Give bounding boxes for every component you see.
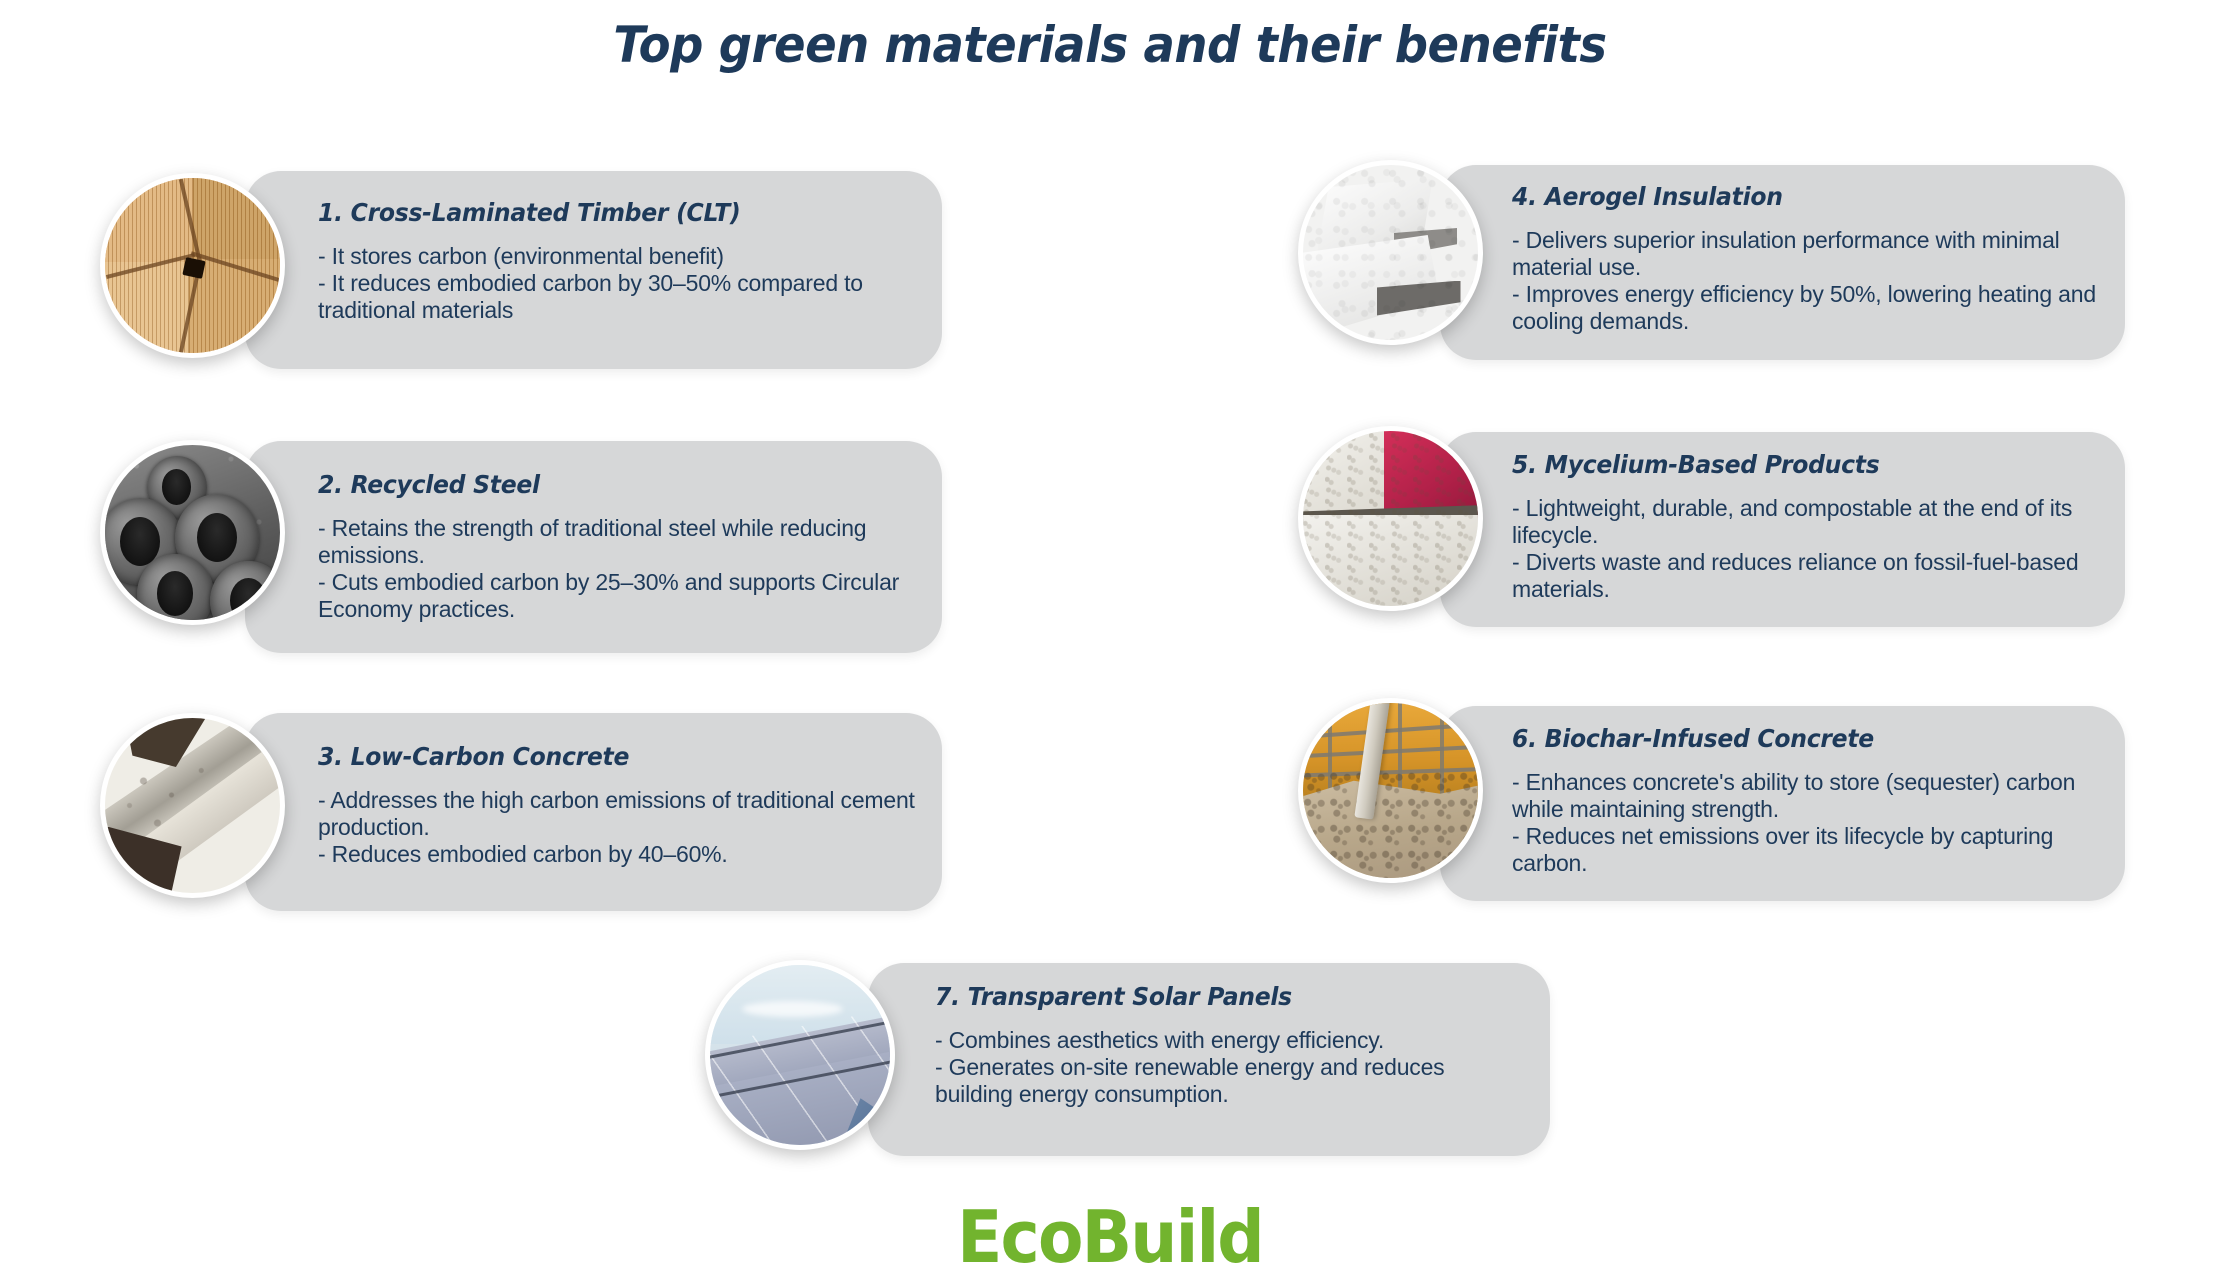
card-3-text: 3. Low-Carbon Concrete - Addresses the h… xyxy=(318,742,918,868)
cross-laminated-timber-photo xyxy=(100,173,285,358)
card-6-benefit-1: - Enhances concrete's ability to store (… xyxy=(1512,769,2097,823)
card-3-benefit-2: - Reduces embodied carbon by 40–60%. xyxy=(318,841,918,868)
card-4-text: 4. Aerogel Insulation - Delivers superio… xyxy=(1512,182,2097,335)
ecobuild-logo: EcoBuild xyxy=(89,1195,2131,1279)
card-3-heading: 3. Low-Carbon Concrete xyxy=(318,742,882,771)
card-7-heading: 7. Transparent Solar Panels xyxy=(935,982,1480,1011)
mycelium-products-photo xyxy=(1298,426,1483,611)
card-5-text: 5. Mycelium-Based Products - Lightweight… xyxy=(1512,450,2097,603)
card-2-benefits: - Retains the strength of traditional st… xyxy=(318,515,918,623)
card-7-text: 7. Transparent Solar Panels - Combines a… xyxy=(935,982,1515,1108)
card-2-heading: 2. Recycled Steel xyxy=(318,470,882,499)
card-6-benefits: - Enhances concrete's ability to store (… xyxy=(1512,769,2097,877)
card-7-benefits: - Combines aesthetics with energy effici… xyxy=(935,1027,1515,1108)
card-1-text: 1. Cross-Laminated Timber (CLT) - It sto… xyxy=(318,198,918,324)
card-6-benefit-2: - Reduces net emissions over its lifecyc… xyxy=(1512,823,2097,877)
card-6-heading: 6. Biochar-Infused Concrete xyxy=(1512,724,2062,753)
transparent-solar-panels-photo xyxy=(705,960,895,1150)
card-7-benefit-2: - Generates on-site renewable energy and… xyxy=(935,1054,1515,1108)
card-2-text: 2. Recycled Steel - Retains the strength… xyxy=(318,470,918,623)
card-5-benefit-2: - Diverts waste and reduces reliance on … xyxy=(1512,549,2097,603)
card-4-benefits: - Delivers superior insulation performan… xyxy=(1512,227,2097,335)
card-2-benefit-2: - Cuts embodied carbon by 25–30% and sup… xyxy=(318,569,918,623)
card-2-benefit-1: - Retains the strength of traditional st… xyxy=(318,515,918,569)
card-1-benefits: - It stores carbon (environmental benefi… xyxy=(318,243,918,324)
low-carbon-concrete-photo xyxy=(100,713,285,898)
card-3-benefit-1: - Addresses the high carbon emissions of… xyxy=(318,787,918,841)
recycled-steel-photo xyxy=(100,440,285,625)
aerogel-insulation-photo xyxy=(1298,160,1483,345)
card-4-benefit-1: - Delivers superior insulation performan… xyxy=(1512,227,2097,281)
page-title: Top green materials and their benefits xyxy=(78,16,2143,74)
card-4-benefit-2: - Improves energy efficiency by 50%, low… xyxy=(1512,281,2097,335)
card-1-benefit-1: - It stores carbon (environmental benefi… xyxy=(318,243,918,270)
card-1-heading: 1. Cross-Laminated Timber (CLT) xyxy=(318,198,882,227)
card-5-benefits: - Lightweight, durable, and compostable … xyxy=(1512,495,2097,603)
card-6-text: 6. Biochar-Infused Concrete - Enhances c… xyxy=(1512,724,2097,877)
card-5-benefit-1: - Lightweight, durable, and compostable … xyxy=(1512,495,2097,549)
card-5-heading: 5. Mycelium-Based Products xyxy=(1512,450,2062,479)
biochar-concrete-photo xyxy=(1298,698,1483,883)
card-3-benefits: - Addresses the high carbon emissions of… xyxy=(318,787,918,868)
card-7-benefit-1: - Combines aesthetics with energy effici… xyxy=(935,1027,1515,1054)
card-1-benefit-2: - It reduces embodied carbon by 30–50% c… xyxy=(318,270,918,324)
card-4-heading: 4. Aerogel Insulation xyxy=(1512,182,2062,211)
